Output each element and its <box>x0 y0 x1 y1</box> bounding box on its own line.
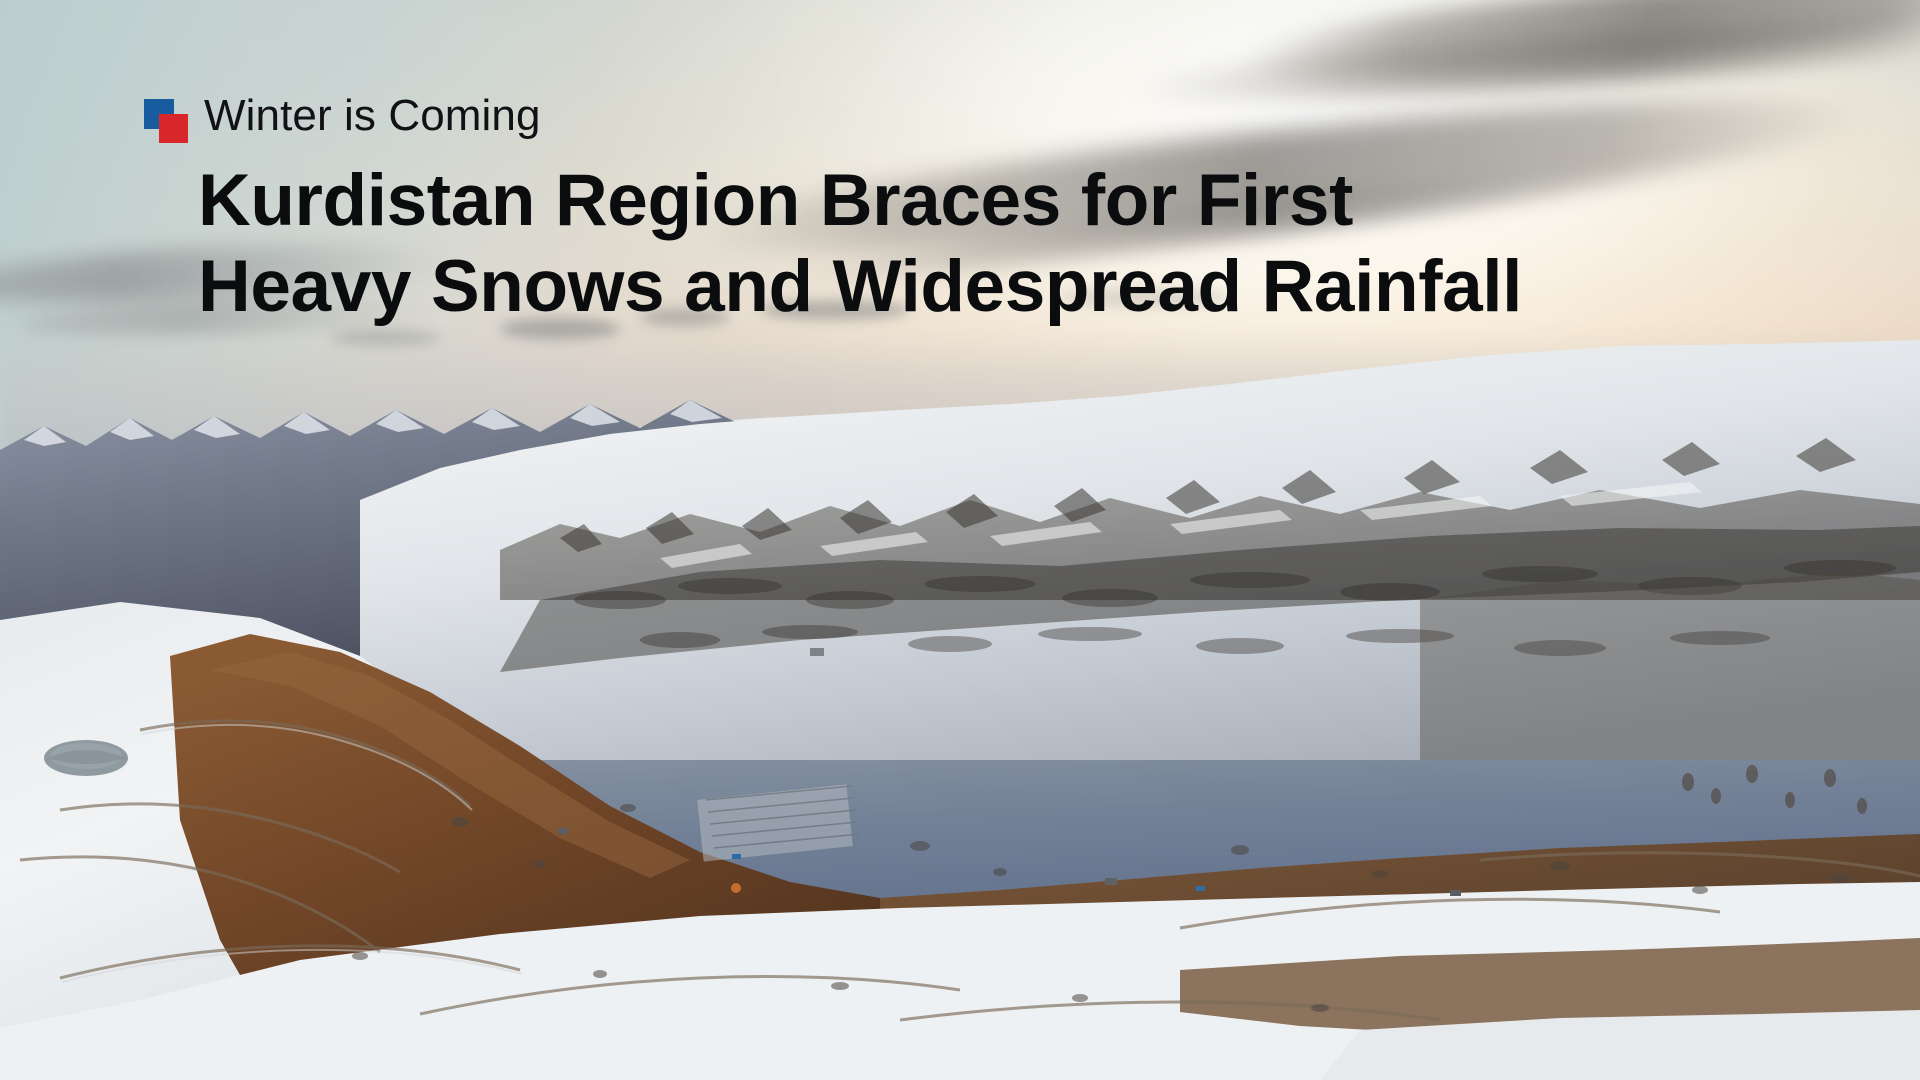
foreground-terrain-layer <box>0 560 1920 1080</box>
kicker-label: Winter is Coming <box>204 94 541 138</box>
logo-red-square <box>159 114 188 143</box>
kicker-row: Winter is Coming <box>140 88 541 144</box>
news-graphic-canvas: Winter is Coming Kurdistan Region Braces… <box>0 0 1920 1080</box>
headline-line-2: Heavy Snows and Widespread Rainfall <box>198 244 1698 330</box>
headline-block: Kurdistan Region Braces for First Heavy … <box>198 158 1698 330</box>
two-squares-logo-icon[interactable] <box>140 93 186 139</box>
headline-line-1: Kurdistan Region Braces for First <box>198 158 1698 244</box>
